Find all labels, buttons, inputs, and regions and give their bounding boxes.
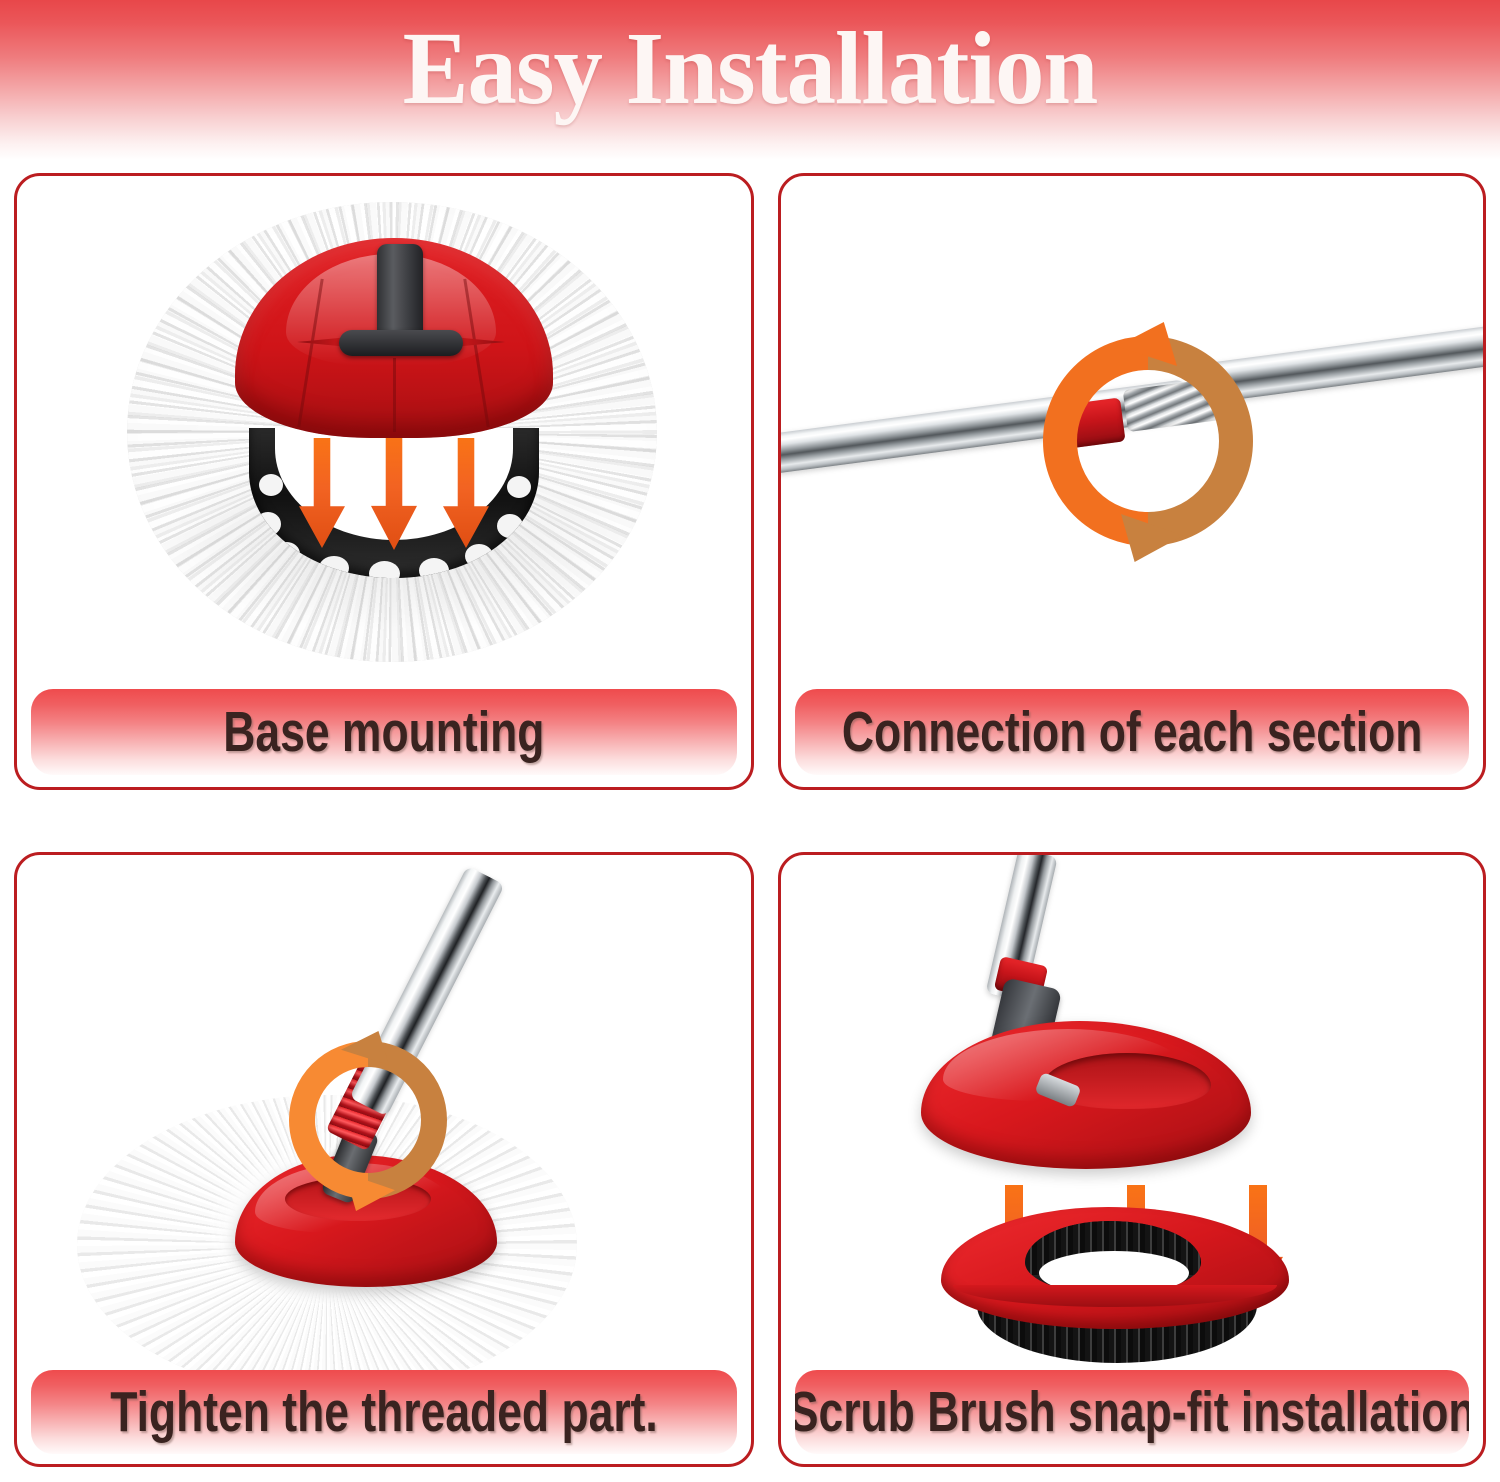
step-panel-base-mounting: Base mounting (14, 173, 754, 790)
panel-caption: Base mounting (31, 689, 737, 775)
caption-text: Tighten the threaded part. (110, 1382, 658, 1442)
panel-caption: Connection of each section (795, 689, 1469, 775)
caption-text: Connection of each section (842, 702, 1423, 762)
gray-connector-stem (377, 244, 423, 340)
collar-hole (319, 556, 349, 578)
collar-hole (273, 542, 300, 566)
collar-hole (465, 544, 493, 568)
collar-hole (255, 512, 281, 536)
step-panel-scrub-brush: Scrub Brush snap-fit installation (778, 852, 1486, 1467)
rotate-arrow-icon (1043, 336, 1253, 546)
collar-hole (259, 474, 283, 496)
collar-hole (497, 514, 523, 538)
page-title: Easy Installation (38, 14, 1463, 124)
panel-caption: Tighten the threaded part. (31, 1370, 737, 1454)
black-connector-bar (339, 330, 463, 356)
mop-head-illustration (127, 202, 657, 662)
collar-hole (419, 558, 449, 578)
panel-caption: Scrub Brush snap-fit installation (795, 1370, 1469, 1454)
caption-text: Base mounting (223, 702, 544, 762)
caption-text: Scrub Brush snap-fit installation (795, 1382, 1469, 1442)
header-banner: Easy Installation (0, 0, 1500, 160)
brush-center-opening (1025, 1221, 1201, 1295)
step-panel-tighten-thread: Tighten the threaded part. (14, 852, 754, 1467)
red-base-cap (235, 238, 553, 438)
step-panel-section-connection: Connection of each section (778, 173, 1486, 790)
cap-seam (393, 358, 396, 432)
collar-hole (507, 476, 531, 498)
rotate-arrow-icon (289, 1041, 447, 1199)
collar-hole (369, 561, 400, 578)
scrub-brush (941, 1207, 1289, 1377)
